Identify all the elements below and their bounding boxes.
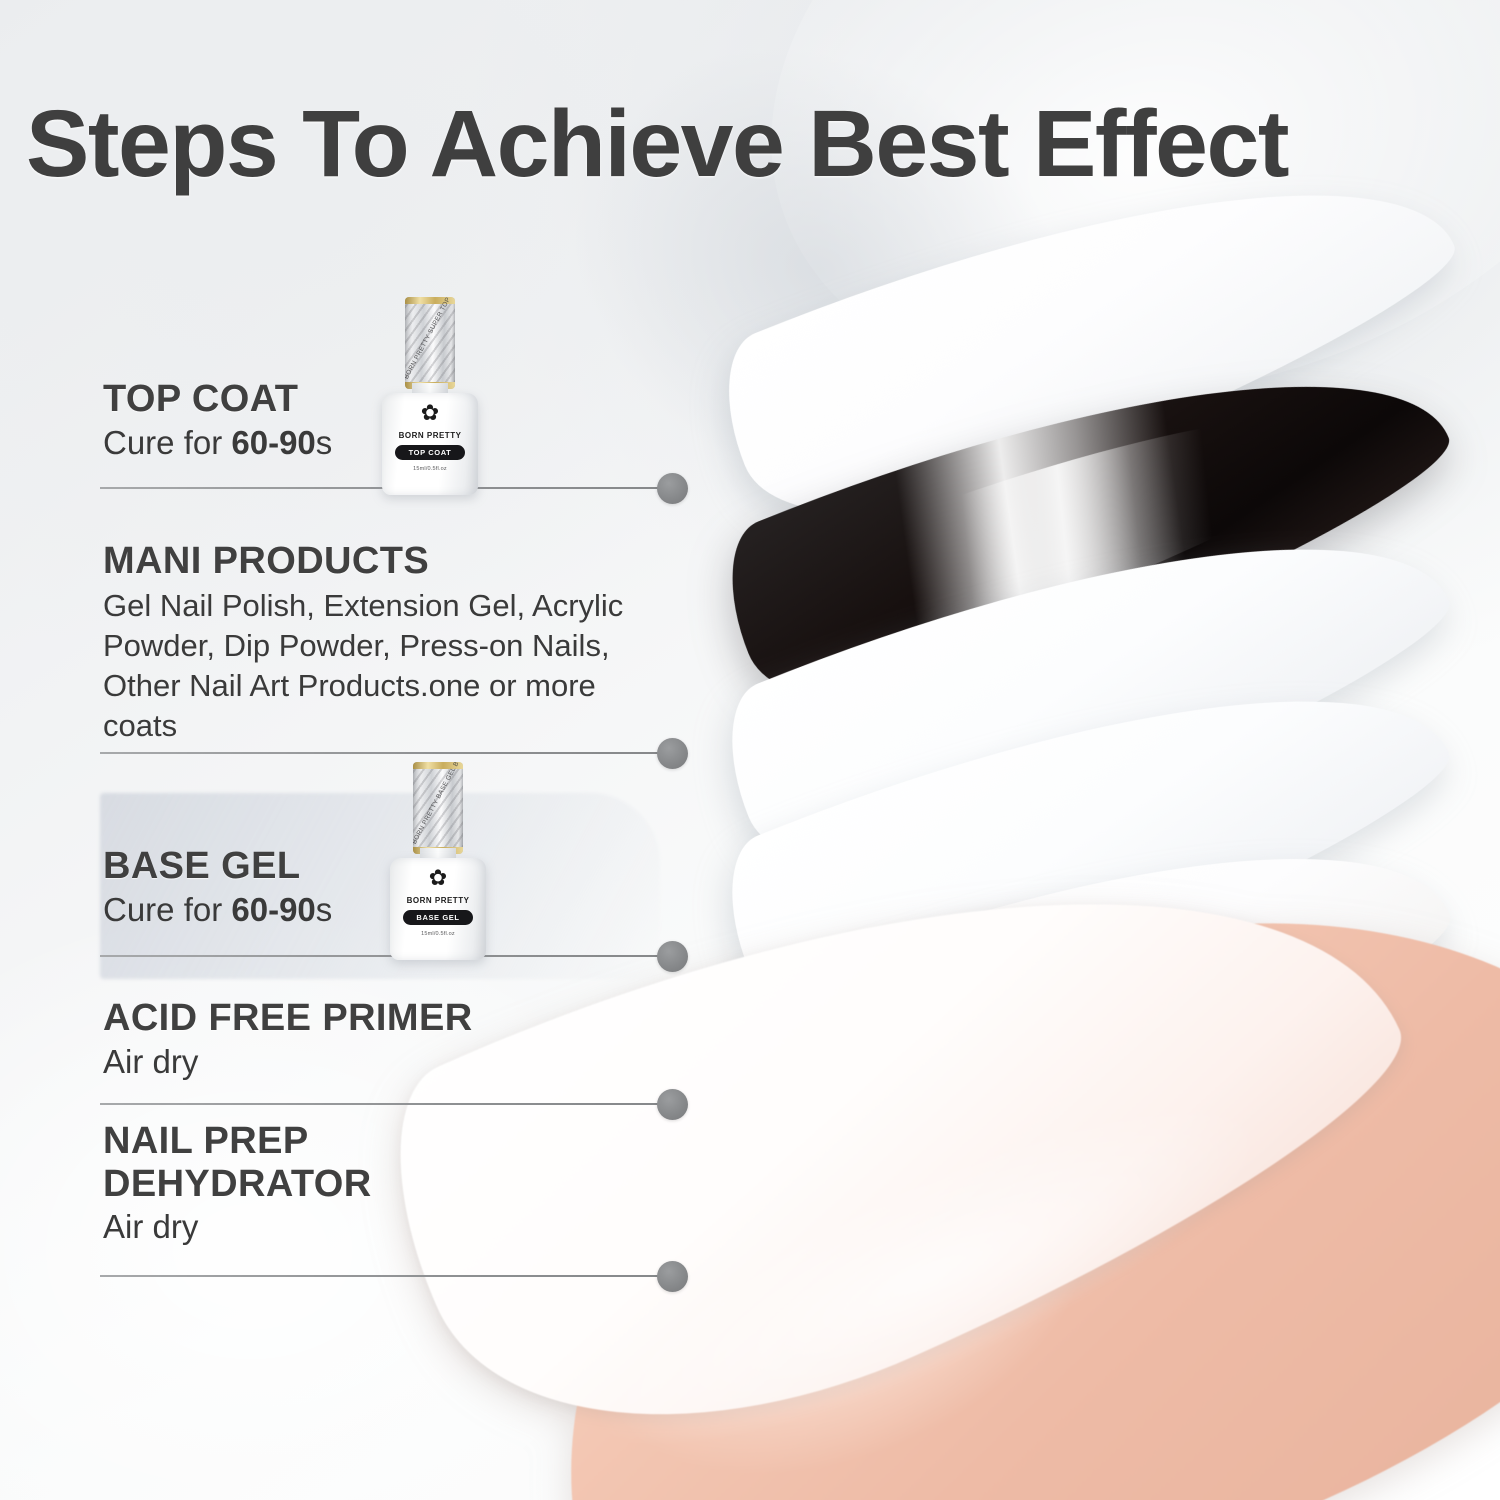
connector-rule [100,1275,670,1277]
bottle-cap-top-coat: BORN PRETTY SUPER TOP BORN PRETTY SUPER … [405,297,455,389]
infographic-canvas: Steps To Achieve Best Effect TOP COAT Cu… [0,0,1500,1500]
step-acid-free-primer-subtitle: Air dry [103,1042,760,1082]
steps-list: TOP COAT Cure for 60-90s MANI PRODUCTS G… [0,0,760,1500]
step-mani-products[interactable]: MANI PRODUCTS Gel Nail Polish, Extension… [0,540,760,747]
connector-rule [100,955,670,957]
cure-duration: 60-90 [231,424,315,461]
step-nail-prep-dehydrator-title: NAIL PREP DEHYDRATOR [103,1120,503,1205]
nail-layer-color-gel [704,270,1470,764]
cure-prefix: Cure for [103,891,231,928]
bottle-label-top-coat: TOP COAT [395,445,465,460]
cure-prefix: Cure for [103,424,231,461]
nail-layer-primer [704,584,1471,1080]
bottle-body-base-gel: ✿ BORN PRETTY BASE GEL 15ml/0.5fl.oz [390,858,486,960]
connector-dot [657,1261,688,1292]
step-acid-free-primer-connector [100,1089,688,1119]
bottle-volume-top-coat: 15ml/0.5fl.oz [382,466,478,472]
bottle-brand-top-coat: BORN PRETTY [382,431,478,440]
connector-dot [657,738,688,769]
bottle-cap-base-gel: BORN PRETTY BASE GEL BORN PRETTY BASE GE… [413,762,463,854]
bottle-label-base-gel: BASE GEL [403,910,473,925]
bottle-body-top-coat: ✿ BORN PRETTY TOP COAT 15ml/0.5fl.oz [382,393,478,495]
step-nail-prep-dehydrator[interactable]: NAIL PREP DEHYDRATOR Air dry [0,1120,760,1247]
connector-dot [657,1089,688,1120]
born-pretty-flower-logo-icon: ✿ [382,402,478,424]
step-nail-prep-dehydrator-connector [100,1261,688,1291]
cap-text-base-gel: BORN PRETTY BASE GEL BORN PRETTY BASE GE… [413,762,463,847]
nail-layer-base-gel [704,432,1471,928]
cure-duration: 60-90 [231,891,315,928]
step-nail-prep-dehydrator-subtitle: Air dry [103,1207,760,1247]
connector-rule [100,1103,670,1105]
step-acid-free-primer[interactable]: ACID FREE PRIMER Air dry [0,997,760,1082]
born-pretty-flower-logo-icon: ✿ [390,867,486,889]
step-acid-free-primer-text: ACID FREE PRIMER Air dry [0,997,760,1082]
bottle-brand-base-gel: BORN PRETTY [390,896,486,905]
product-bottle-base-gel[interactable]: BORN PRETTY BASE GEL BORN PRETTY BASE GE… [386,762,490,960]
step-mani-products-description: Gel Nail Polish, Extension Gel, Acrylic … [103,586,663,747]
connector-dot [657,473,688,504]
cap-text-top-coat: BORN PRETTY SUPER TOP BORN PRETTY SUPER … [405,297,455,382]
cure-suffix: s [316,424,333,461]
step-mani-products-text: MANI PRODUCTS Gel Nail Polish, Extension… [0,540,760,747]
nail-layer-dehydrator [702,738,1472,1243]
product-bottle-top-coat[interactable]: BORN PRETTY SUPER TOP BORN PRETTY SUPER … [378,297,482,495]
cure-suffix: s [316,891,333,928]
connector-rule [100,752,670,754]
bottle-volume-base-gel: 15ml/0.5fl.oz [390,931,486,937]
step-nail-prep-dehydrator-text: NAIL PREP DEHYDRATOR Air dry [0,1120,760,1247]
step-base-gel[interactable]: BASE GEL Cure for 60-90s [0,845,760,930]
step-acid-free-primer-title: ACID FREE PRIMER [103,997,760,1040]
step-mani-products-title: MANI PRODUCTS [103,540,760,583]
connector-dot [657,941,688,972]
background-sheen-top-right [686,0,1500,504]
step-base-gel-text: BASE GEL Cure for 60-90s [0,845,760,930]
